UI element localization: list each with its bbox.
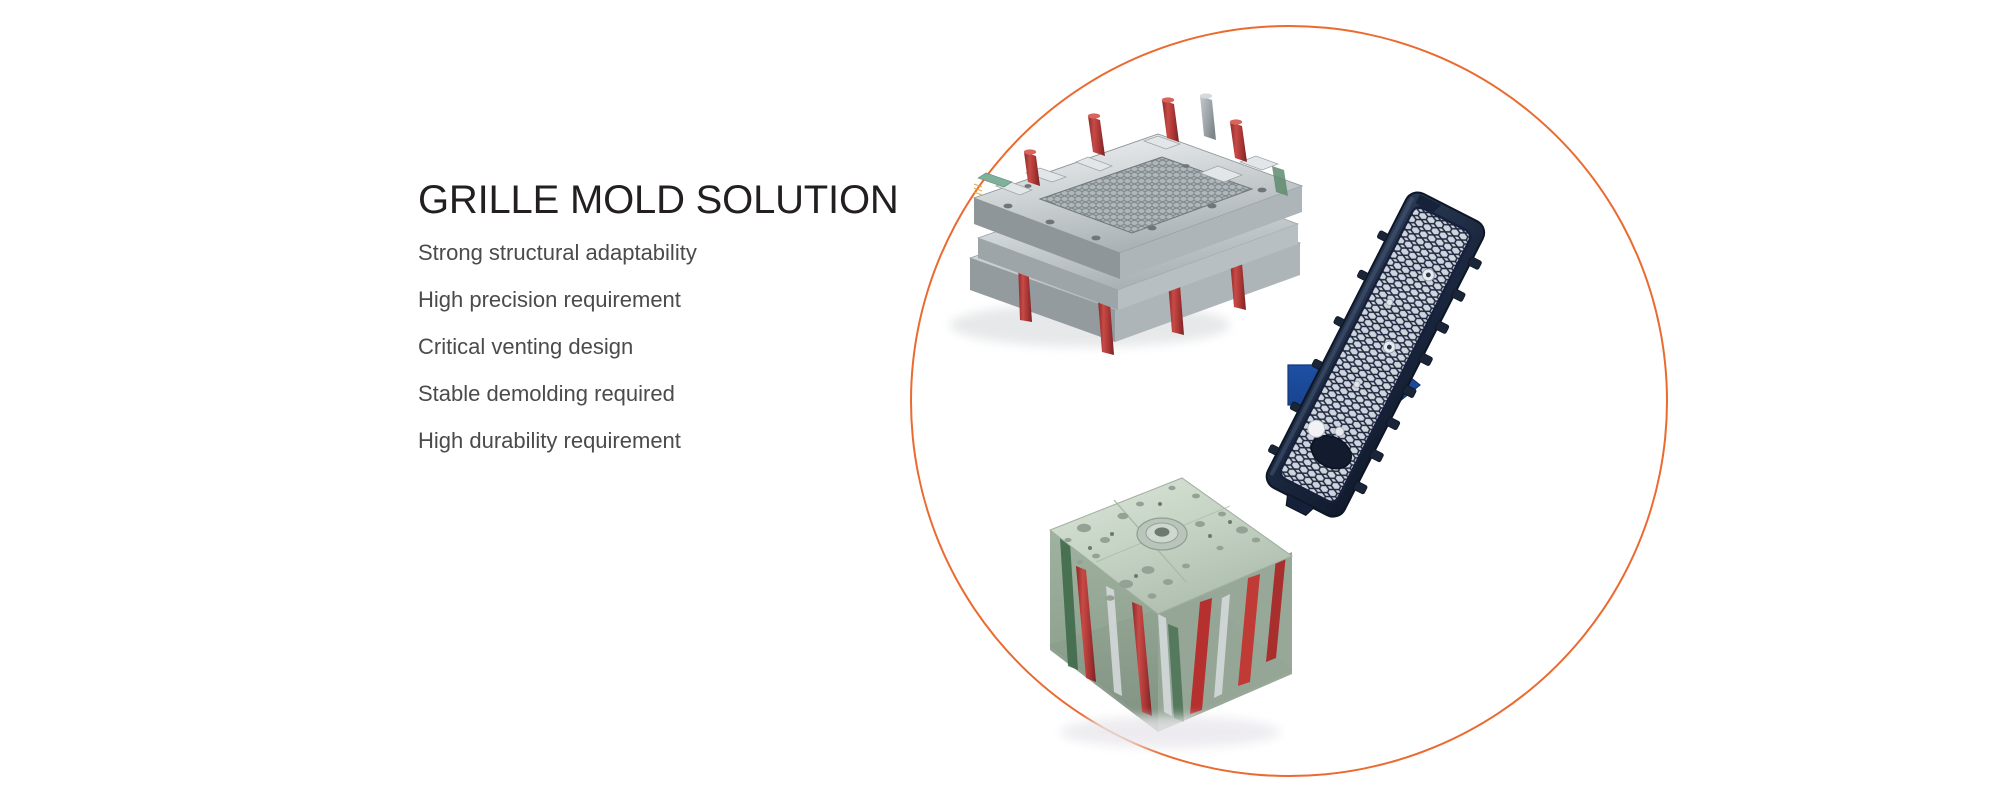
illustration-artwork: [900, 10, 1690, 800]
list-item: High precision requirement: [418, 287, 878, 313]
page-title: GRILLE MOLD SOLUTION: [418, 178, 878, 222]
list-item: High durability requirement: [418, 428, 878, 454]
upper-mold-tool-photo: [950, 93, 1302, 355]
list-item: Strong structural adaptability: [418, 240, 878, 266]
text-column: GRILLE MOLD SOLUTION Strong structural a…: [418, 178, 878, 454]
list-item: Critical venting design: [418, 334, 878, 360]
slide-canvas: GRILLE MOLD SOLUTION Strong structural a…: [0, 0, 2000, 800]
lower-mold-base-photo: [1050, 478, 1292, 748]
illustration-group: [900, 10, 1690, 800]
feature-list: Strong structural adaptability High prec…: [418, 240, 878, 454]
list-item: Stable demolding required: [418, 381, 878, 407]
